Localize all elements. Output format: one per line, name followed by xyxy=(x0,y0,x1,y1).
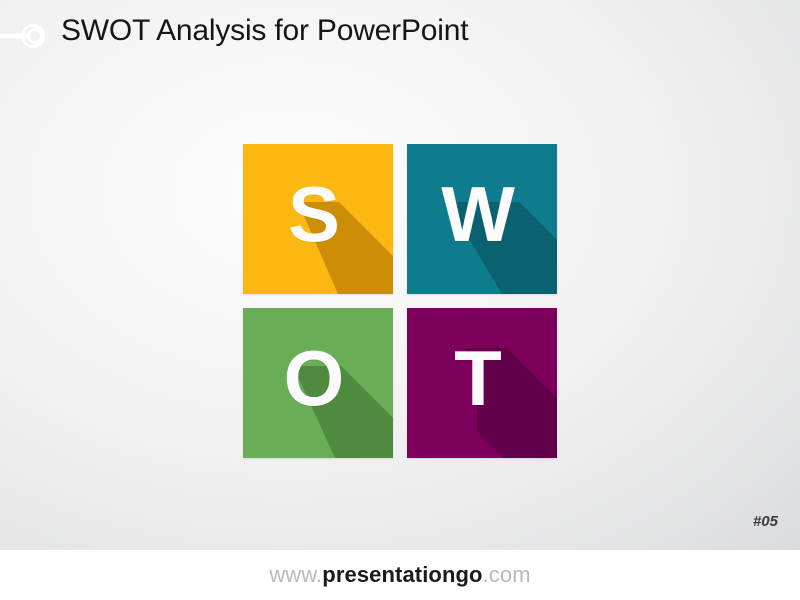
page-title: SWOT Analysis for PowerPoint xyxy=(61,14,468,48)
ring-with-line-icon xyxy=(0,22,52,50)
slide-canvas: SWOT Analysis for PowerPoint S W O xyxy=(0,0,800,600)
swot-tile-weaknesses[interactable]: W xyxy=(407,144,557,294)
slide-header: SWOT Analysis for PowerPoint xyxy=(0,0,800,66)
page-number-badge: #05 xyxy=(753,513,778,530)
footer-website-link[interactable]: www.presentationgo.com xyxy=(269,562,530,588)
swot-letter-s: S xyxy=(243,144,393,294)
swot-matrix: S W O T xyxy=(243,144,557,460)
swot-tile-strengths[interactable]: S xyxy=(243,144,393,294)
swot-letter-t: T xyxy=(407,308,557,458)
url-prefix: www. xyxy=(269,562,322,587)
swot-tile-opportunities[interactable]: O xyxy=(243,308,393,458)
swot-letter-o: O xyxy=(243,308,393,458)
swot-letter-w: W xyxy=(407,144,557,294)
url-tld: .com xyxy=(483,562,531,587)
url-brand: presentationgo xyxy=(322,562,482,587)
slide-footer: www.presentationgo.com xyxy=(0,550,800,600)
swot-tile-threats[interactable]: T xyxy=(407,308,557,458)
